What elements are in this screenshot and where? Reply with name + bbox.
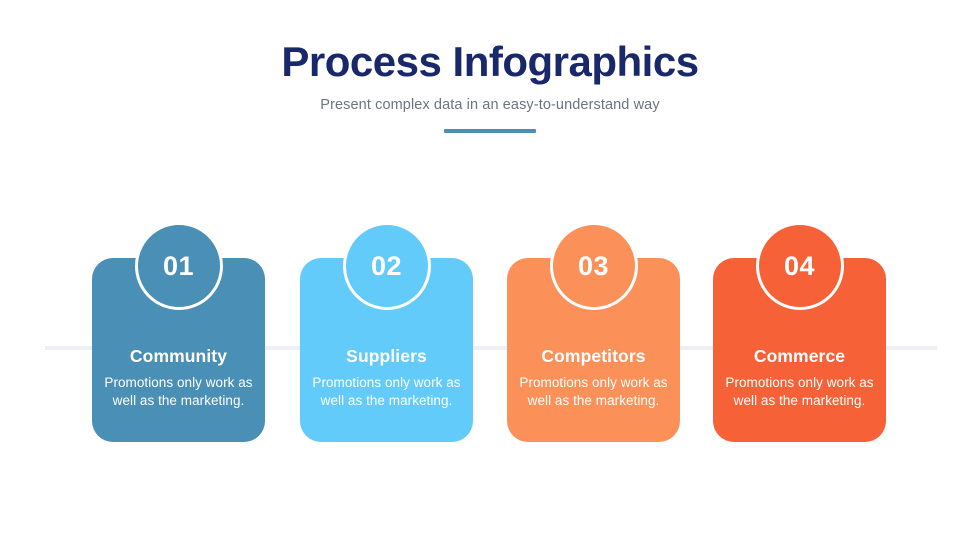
step-number-badge-2: 02 [343,222,431,310]
step-title-1: Community [104,346,253,367]
process-steps-row: Community Promotions only work as well a… [92,222,888,442]
step-number-badge-4: 04 [756,222,844,310]
step-number-label-3: 03 [578,253,609,280]
step-number-label-1: 01 [163,253,194,280]
step-title-4: Commerce [725,346,874,367]
step-number-badge-1: 01 [135,222,223,310]
step-description-1: Promotions only work as well as the mark… [104,374,253,410]
process-step-4[interactable]: Commerce Promotions only work as well as… [713,222,886,442]
page-title: Process Infographics [0,38,980,85]
step-title-2: Suppliers [312,346,461,367]
step-description-3: Promotions only work as well as the mark… [519,374,668,410]
step-title-3: Competitors [519,346,668,367]
step-description-2: Promotions only work as well as the mark… [312,374,461,410]
slide-header: Process Infographics Present complex dat… [0,38,980,133]
step-number-label-4: 04 [784,253,815,280]
page-subtitle: Present complex data in an easy-to-under… [0,97,980,113]
accent-divider [444,129,536,133]
process-step-2[interactable]: Suppliers Promotions only work as well a… [300,222,473,442]
process-step-3[interactable]: Competitors Promotions only work as well… [507,222,680,442]
step-description-4: Promotions only work as well as the mark… [725,374,874,410]
process-step-1[interactable]: Community Promotions only work as well a… [92,222,265,442]
step-number-label-2: 02 [371,253,402,280]
infographic-slide: Process Infographics Present complex dat… [0,0,980,551]
step-number-badge-3: 03 [550,222,638,310]
